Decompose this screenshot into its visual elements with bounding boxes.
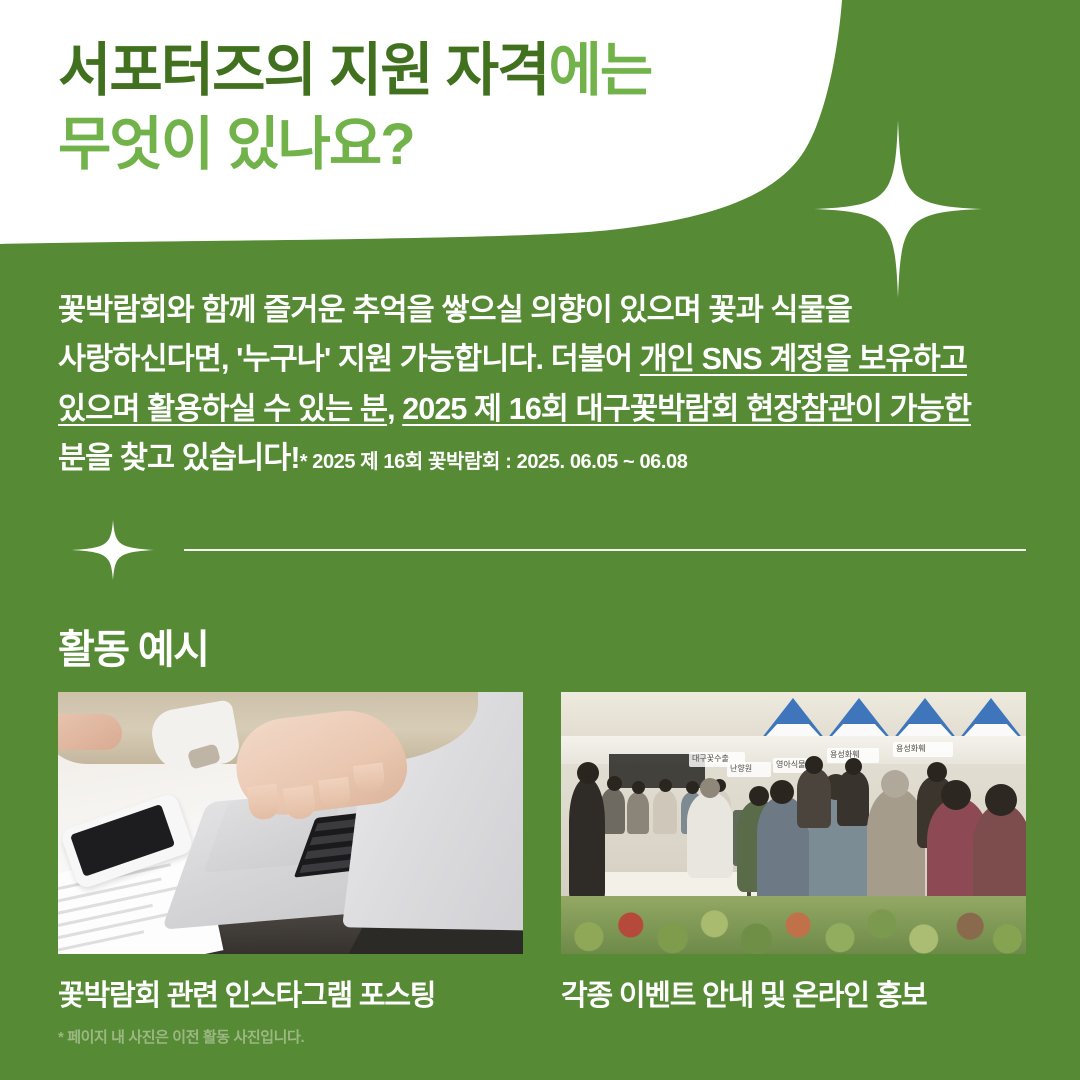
crowd-person-head	[577, 762, 599, 784]
header: 서포터즈의 지원 자격에는 무엇이 있나요?	[0, 0, 1080, 250]
caption-photo-1: 꽃박람회 관련 인스타그램 포스팅	[58, 972, 523, 1014]
crowd-person-head	[770, 780, 794, 804]
title-light-segment: 에는	[548, 38, 651, 103]
title-dark-segment: 서포터즈의 지원 자격	[58, 38, 548, 103]
crowd-person-head	[632, 781, 645, 794]
footnote: * 페이지 내 사진은 이전 활동 사진입니다.	[58, 1026, 304, 1047]
divider	[58, 520, 1026, 580]
crowd-person-head	[805, 756, 823, 774]
title-line-1: 서포터즈의 지원 자격에는	[58, 34, 858, 108]
photo-gallery: 용성화훼 용성화훼 대구꽃수출 난향원 영아식물원	[58, 692, 1026, 954]
booth-sign: 난향원	[727, 762, 771, 777]
body-part-3: 분을 찾고 있습니다!	[58, 441, 300, 475]
booth-sign: 용성화훼	[893, 742, 953, 757]
crowd-person-head	[659, 779, 672, 792]
section-heading: 활동 예시	[58, 617, 208, 675]
crowd-person	[627, 792, 649, 834]
body-footnote-inline: * 2025 제 16회 꽃박람회 : 2025. 06.05 ~ 06.08	[300, 451, 688, 473]
photo-laptop-typing	[58, 692, 523, 954]
left-hand	[58, 714, 122, 750]
crowd-person	[653, 790, 677, 834]
crowd-person-head	[941, 780, 971, 810]
promo-card: 서포터즈의 지원 자격에는 무엇이 있나요? 꽃박람회와 함께 즐거운 추억을 …	[0, 0, 1080, 1080]
photo-expo-crowd: 용성화훼 용성화훼 대구꽃수출 난향원 영아식물원	[561, 692, 1026, 954]
crowd-person-head	[985, 784, 1017, 816]
photo-captions: 꽃박람회 관련 인스타그램 포스팅 각종 이벤트 안내 및 온라인 홍보	[58, 972, 1026, 1014]
body-part-2: ,	[387, 392, 402, 426]
crowd-person	[687, 792, 733, 878]
page-title: 서포터즈의 지원 자격에는 무엇이 있나요?	[58, 34, 858, 182]
crowd-person	[569, 778, 605, 904]
divider-rule	[184, 549, 1026, 551]
body-paragraph: 꽃박람회와 함께 즐거운 추억을 쌓으실 의향이 있으며 꽃과 식물을 사랑하신…	[58, 286, 1026, 484]
body-underline-2: 2025 제 16회 대구꽃박람회 현장참관이 가능한	[402, 392, 971, 426]
crowd-person-head	[607, 776, 622, 791]
crowd-person	[797, 768, 831, 828]
caption-photo-2: 각종 이벤트 안내 및 온라인 홍보	[561, 972, 1026, 1014]
crowd-person-head	[686, 781, 699, 794]
crowd-person-head	[845, 758, 862, 775]
title-line-2: 무엇이 있나요?	[58, 108, 858, 182]
crowd-person	[837, 770, 869, 826]
sparkle-icon	[72, 520, 154, 580]
plant-display	[561, 896, 1026, 954]
crowd-person-head	[927, 762, 947, 782]
crowd-person-head	[700, 778, 720, 798]
crowd-person-head	[881, 770, 909, 798]
